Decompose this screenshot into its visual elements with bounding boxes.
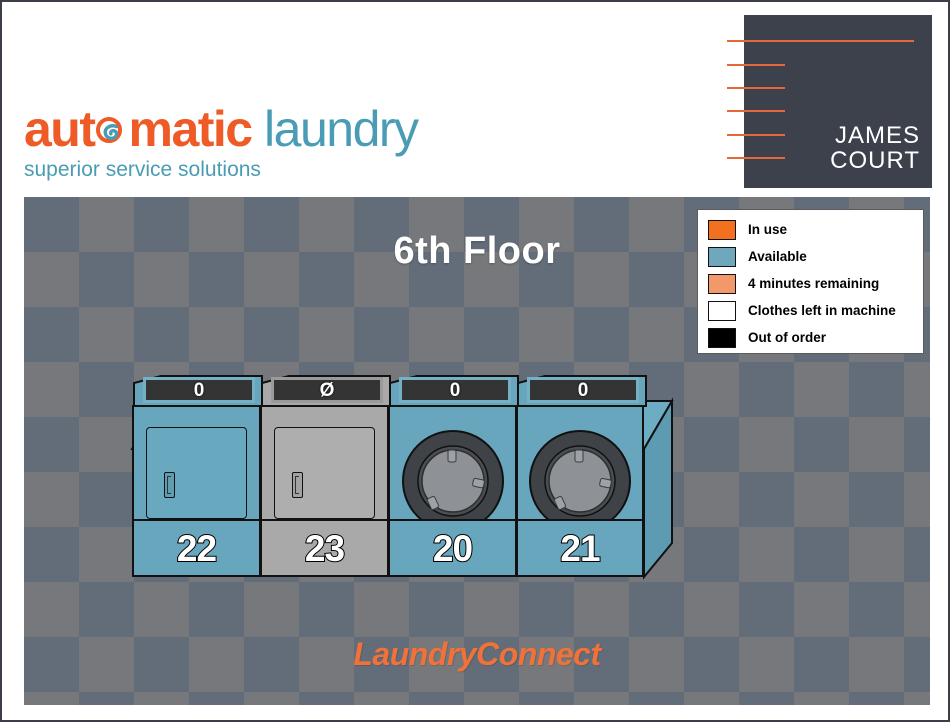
property-rule-6: [727, 157, 785, 159]
machine-23[interactable]: Ø 23: [260, 405, 388, 577]
machine-21-display: 0: [527, 377, 639, 403]
machine-23-display: Ø: [271, 377, 383, 403]
machine-23-console: Ø: [261, 375, 391, 407]
automatic-laundry-logo: aut matic laundry superior service solut…: [24, 102, 494, 192]
legend-swatch-four-minutes: [708, 274, 736, 294]
machine-22-console: 0: [133, 375, 263, 407]
machine-23-lid: [274, 427, 375, 519]
property-rule-2: [727, 64, 785, 66]
legend-swatch-in-use: [708, 220, 736, 240]
legend-item-clothes-left: Clothes left in machine: [708, 297, 923, 324]
machine-23-lid-handle: [292, 472, 303, 498]
machine-23-number: 23: [305, 530, 344, 567]
brand-word-matic: matic: [129, 101, 252, 157]
brand-word-laundry: laundry: [252, 101, 418, 157]
legend-swatch-available: [708, 247, 736, 267]
machine-23-display-text: Ø: [320, 381, 335, 400]
machine-21-number-plate: 21: [518, 519, 642, 575]
machine-21-number: 21: [560, 530, 599, 567]
property-rule-4: [727, 110, 785, 112]
water-swirl-icon: [100, 121, 124, 145]
laundry-status-page: aut matic laundry superior service solut…: [0, 0, 950, 722]
machine-20-display-text: 0: [450, 381, 461, 400]
machine-20-porthole-door: [401, 429, 505, 533]
legend-label-available: Available: [748, 249, 807, 264]
property-name-line2: COURT: [830, 148, 920, 173]
brand-wordmark: aut matic laundry: [24, 102, 494, 156]
legend-label-clothes-left: Clothes left in machine: [748, 303, 896, 318]
property-rule-5: [727, 134, 785, 136]
machine-20-number-plate: 20: [390, 519, 515, 575]
machine-20-number: 20: [433, 530, 472, 567]
machine-20[interactable]: 0 20: [388, 405, 516, 577]
property-name: JAMES COURT: [830, 123, 920, 173]
legend-item-in-use: In use: [708, 216, 923, 243]
legend-item-four-minutes: 4 minutes remaining: [708, 270, 923, 297]
property-name-line1: JAMES: [830, 123, 920, 148]
legend-label-out-of-order: Out of order: [748, 330, 826, 345]
legend-swatch-out-of-order: [708, 328, 736, 348]
laundryconnect-wordmark: LaundryConnect: [24, 636, 930, 673]
laundry-room-board: 6th Floor In use Available 4 minutes rem…: [24, 197, 930, 705]
machine-20-console: 0: [389, 375, 519, 407]
machine-23-number-plate: 23: [262, 519, 387, 575]
machine-21-porthole-door: [528, 429, 632, 533]
machine-22-display: 0: [143, 377, 255, 403]
machine-22-number: 22: [177, 530, 216, 567]
machine-21-display-text: 0: [578, 381, 589, 400]
machine-21[interactable]: 0 21: [516, 405, 644, 577]
property-logo-james-court: JAMES COURT: [744, 15, 932, 188]
machine-bank: 0 22 Ø: [130, 357, 700, 602]
machine-21-console: 0: [517, 375, 647, 407]
machine-22-display-text: 0: [194, 381, 205, 400]
legend-label-four-minutes: 4 minutes remaining: [748, 276, 879, 291]
brand-tagline: superior service solutions: [24, 158, 494, 182]
machine-22-number-plate: 22: [134, 519, 259, 575]
legend-item-out-of-order: Out of order: [708, 324, 923, 351]
machine-22-lid: [146, 427, 247, 519]
status-legend: In use Available 4 minutes remaining Clo…: [697, 209, 924, 354]
brand-word-aut: aut: [24, 101, 95, 157]
brand-swirl-o-icon: [95, 116, 129, 150]
property-rule-1: [727, 40, 914, 42]
machine-20-display: 0: [399, 377, 511, 403]
machine-22-lid-handle: [164, 472, 175, 498]
machine-22[interactable]: 0 22: [132, 405, 260, 577]
page-header: aut matic laundry superior service solut…: [2, 2, 948, 195]
legend-label-in-use: In use: [748, 222, 787, 237]
property-rule-3: [727, 87, 785, 89]
legend-swatch-clothes-left: [708, 301, 736, 321]
legend-item-available: Available: [708, 243, 923, 270]
